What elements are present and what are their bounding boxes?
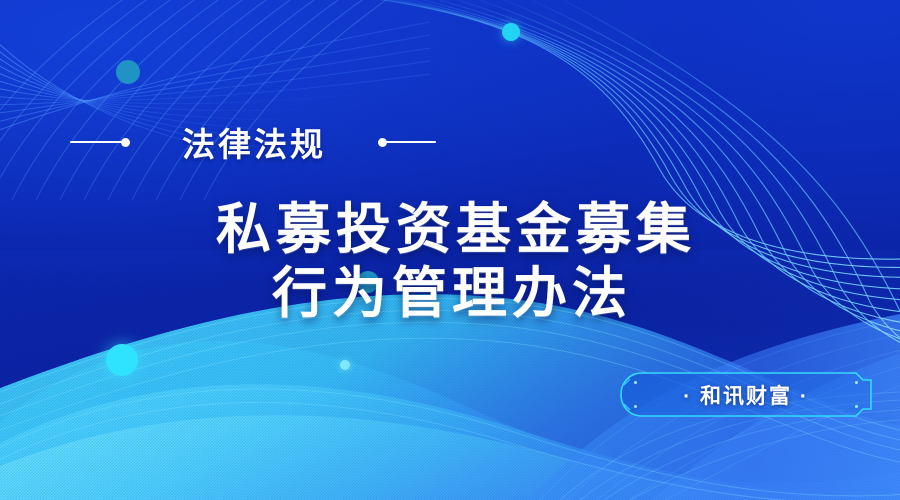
small-cyan-dot-icon: [340, 360, 350, 370]
teal-dot-top-left-icon: [116, 60, 140, 84]
category-label: 法律法规: [182, 118, 326, 166]
brand-badge-label: · 和讯财富 ·: [620, 372, 872, 417]
teal-dot-title-icon: [357, 271, 379, 293]
cyan-dot-top-center-icon: [502, 23, 520, 41]
cyan-dot-bottom-left-icon: [106, 344, 138, 376]
category-row: 法律法规: [0, 119, 520, 165]
left-rule-dot-icon: [121, 138, 130, 147]
banner-canvas: 法律法规 私募投资基金募集 行为管理办法 · 和讯财富 ·: [0, 0, 900, 500]
right-rule: [386, 141, 436, 143]
brand-badge[interactable]: · 和讯财富 ·: [620, 372, 872, 417]
left-rule: [70, 141, 122, 143]
